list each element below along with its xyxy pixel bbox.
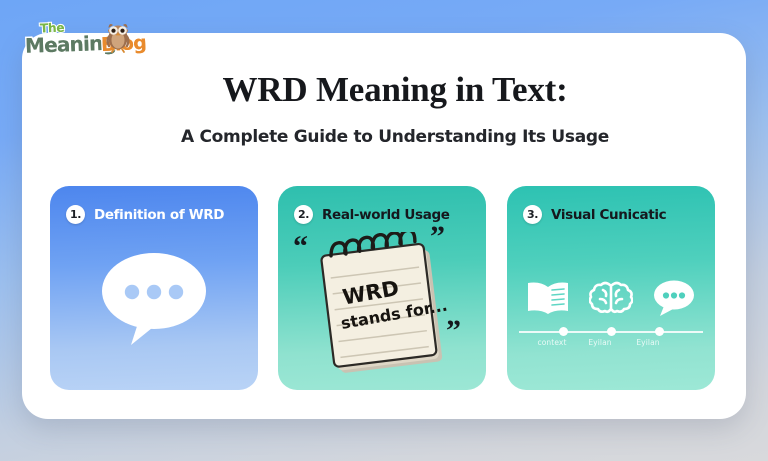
timeline-label: Eyilan [618,338,678,347]
notepad-icon: WRD stands for... [290,232,474,382]
card-number-badge: 1. [66,205,85,224]
speech-bubble-icon [651,278,697,318]
card-visual-communication[interactable]: 3. Visual Cunicatic [507,186,715,390]
brain-icon [589,278,633,318]
card-definition[interactable]: 1. Definition of WRD [50,186,258,390]
owl-icon [98,16,138,56]
speech-bubble-icon [95,248,213,348]
card-header: 3. Visual Cunicatic [523,205,666,224]
logo-word-the: The [40,21,65,36]
timeline-dot [655,327,664,336]
timeline-dot [559,327,568,336]
timeline [519,327,703,336]
card-real-world-usage[interactable]: 2. Real-world Usage “ ” ” [278,186,486,390]
card-title: Visual Cunicatic [551,207,666,223]
site-logo[interactable]: Meanings Meanings The The Blog Blog [24,20,146,72]
card-header: 1. Definition of WRD [66,205,224,224]
page-subtitle: A Complete Guide to Understanding Its Us… [150,126,640,148]
card-number-badge: 2. [294,205,313,224]
timeline-dot [607,327,616,336]
icon-row [525,272,697,318]
card-number-badge: 3. [523,205,542,224]
page-title: WRD Meaning in Text: [160,70,630,110]
card-title: Definition of WRD [94,207,224,223]
card-header: 2. Real-world Usage [294,205,450,224]
open-book-icon [525,278,571,318]
